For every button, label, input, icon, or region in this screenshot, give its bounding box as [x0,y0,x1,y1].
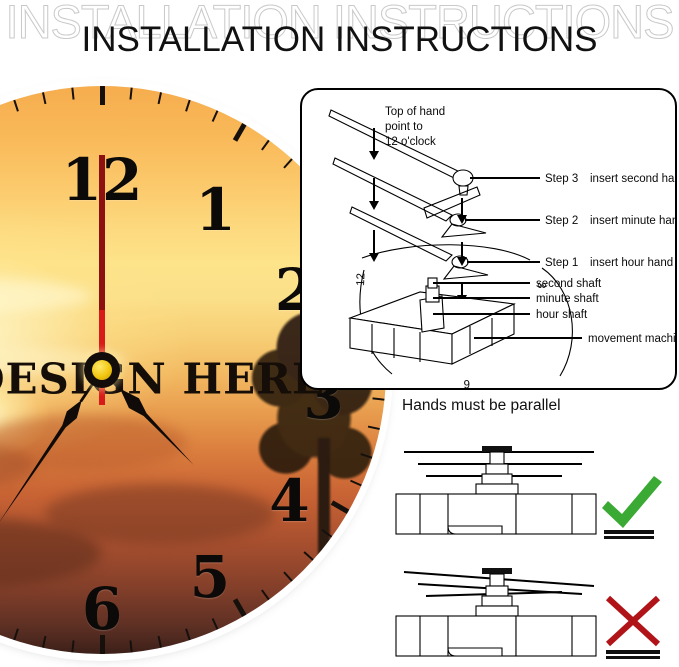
clock-tick-minor [212,110,219,122]
clock-tick-minor [13,628,19,640]
clock-tick-minor [185,628,191,640]
clock-numeral-6: 6 [82,580,122,638]
design-placeholder-text: UR DESIGN HERE [0,354,325,403]
step3-text: insert second hand [590,173,675,185]
clock-tick-minor [283,158,293,168]
clock-tick-minor [321,529,332,538]
step3-label: Step 3 [545,173,578,185]
step2-label: Step 2 [545,215,578,227]
clock-tick-minor [283,571,293,581]
parallel-heading: Hands must be parallel [402,397,561,415]
hands-not-parallel-bad-figure [386,552,616,660]
note-line-2: point to [385,121,423,133]
clock-tick-minor [212,618,219,630]
clock-tick-minor [42,636,46,648]
step-callouts: Step 3 insert second hand Step 2 insert … [465,173,675,269]
clock-tick-minor [42,92,46,104]
clock-tick-minor [261,140,270,151]
hands-parallel-good-figure [386,428,616,536]
dial-mark-6: 6 [464,377,470,388]
movement-machine-label: movement machine [588,333,675,345]
clock-tick-major [232,123,246,142]
installation-instructions-image: INSTALLATION INSTRUCTIONS INSTALLATION I… [0,0,679,667]
clock-numeral-4: 4 [269,472,309,530]
clock-numeral-5: 5 [190,548,230,606]
clock-tick-major [330,500,349,514]
step1-label: Step 1 [545,257,578,269]
minute-shaft-label: minute shaft [536,293,599,305]
clock-tick-minor [71,640,74,652]
clock-numeral-1: 1 [195,181,235,239]
parallel-hands-section: Hands must be parallel [380,392,679,667]
page-title: INSTALLATION INSTRUCTIONS [0,20,679,60]
step2-text: insert minute hand [590,215,675,227]
step1-text: insert hour hand [590,257,673,269]
note-line-3: 12 o'clock [385,136,436,148]
clock-tick-minor [158,92,162,104]
clock-tick-minor [13,100,19,112]
note-line-1: Top of hand [385,106,445,118]
clock-tick-minor [368,426,380,430]
clock-tick-minor [360,453,372,459]
dial-mark-12: 12 [355,273,367,286]
hour-hand-figure [350,207,488,279]
clock-tick-minor [71,87,74,99]
clock-center-hub [84,352,120,388]
clock-tick-minor [185,100,191,112]
second-shaft-label: second shaft [536,278,602,290]
clock-tick-major [100,86,105,105]
clock-tick-minor [261,589,270,600]
hour-shaft-label: hour shaft [536,309,588,321]
clock-tick-major [232,598,246,617]
movement-machine-figure [350,278,514,364]
clock-tick-minor [303,551,313,561]
clock-tick-minor [158,636,162,648]
clock-tick-minor [350,480,362,487]
check-mark-icon [592,470,668,542]
clock-tick-minor [129,87,132,99]
steps-diagram-svg: Top of hand point to 12 o'clock [302,90,675,388]
clock-tick-minor [129,640,132,652]
cross-mark-icon [596,592,672,664]
steps-diagram-panel: Top of hand point to 12 o'clock [300,88,677,390]
